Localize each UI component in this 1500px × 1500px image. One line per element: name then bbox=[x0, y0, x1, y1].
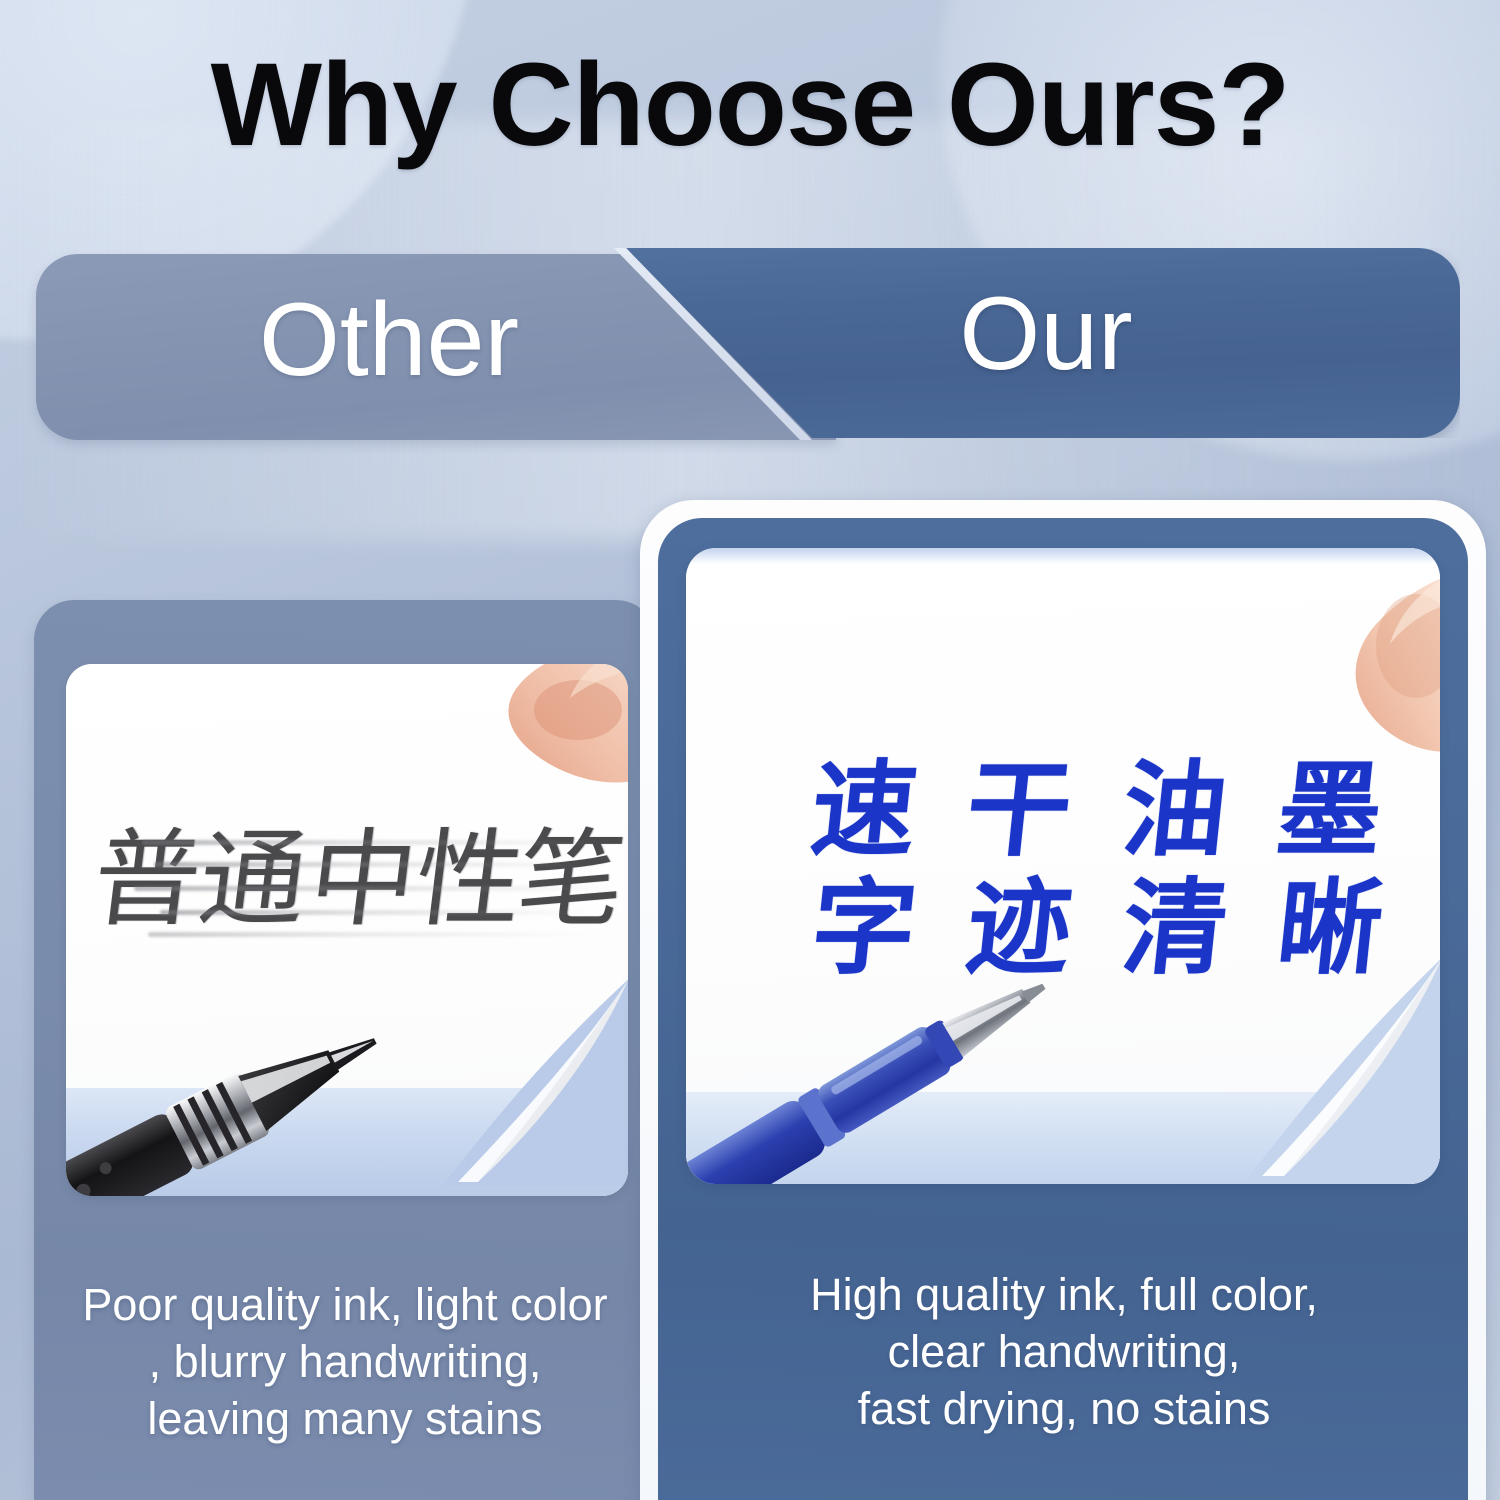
pen-blue-icon bbox=[686, 914, 1070, 1184]
comparison-tab-bar: Other Our bbox=[36, 248, 1460, 440]
infographic-root: Why Choose Ours? Other Our bbox=[0, 0, 1500, 1500]
tab-other-label: Other bbox=[154, 280, 624, 400]
caption-other: Poor quality ink, light color , blurry h… bbox=[40, 1276, 650, 1447]
finger-icon bbox=[428, 664, 628, 808]
paper-top-tint bbox=[686, 548, 1440, 564]
photo-other-pen-sample: 普 通 中 性 笔 bbox=[66, 664, 628, 1196]
handwriting-gray: 普 通 中 性 笔 bbox=[94, 814, 614, 946]
photo-our-pen-sample: 速 干 油 墨 字 迹 清 晰 bbox=[686, 548, 1440, 1184]
caption-our: High quality ink, full color, clear hand… bbox=[676, 1266, 1452, 1437]
handwriting-row-1: 速 干 油 墨 bbox=[812, 754, 1382, 866]
page-curl-icon bbox=[1246, 954, 1440, 1180]
tab-our-label: Our bbox=[836, 274, 1256, 394]
pen-black-icon bbox=[66, 934, 396, 1196]
page-curl-icon bbox=[442, 976, 628, 1186]
page-title: Why Choose Ours? bbox=[0, 46, 1500, 164]
finger-icon bbox=[1248, 576, 1440, 766]
